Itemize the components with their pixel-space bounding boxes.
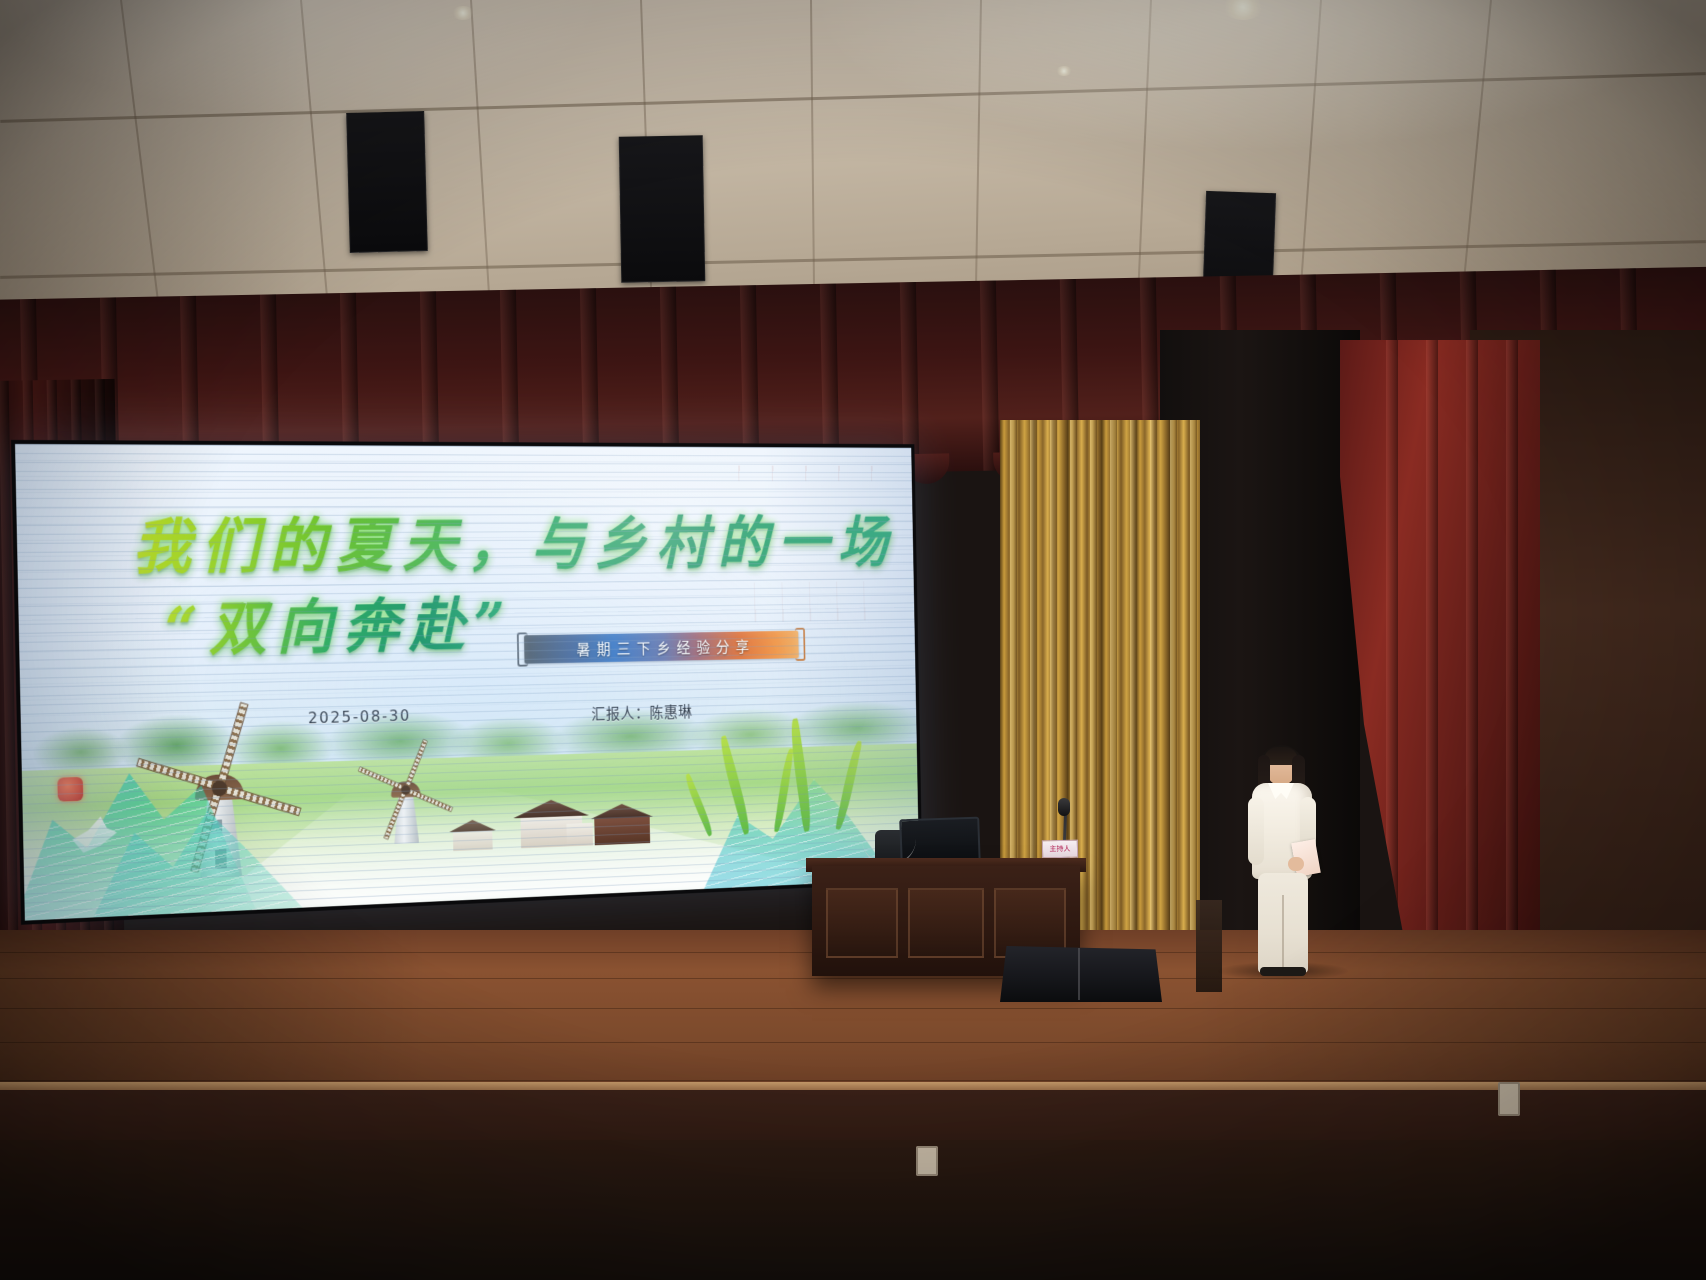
illustration-farmhouse [513,793,593,849]
ribbon-bracket-right [795,628,806,661]
presenter [1236,745,1332,975]
presentation-slide: 我们的夏天，与乡村的一场 “双向奔赴” 暑期三下乡经验分享 2025-08-30… [15,444,919,921]
presenter-arm-left [1248,797,1264,865]
slide-title-line-2: “双向奔赴” [164,577,516,668]
presenter-shoes [1260,967,1306,976]
microphone-icon[interactable] [1058,798,1070,816]
wall-power-socket [1498,1082,1520,1116]
ceiling-acoustic-panel [619,135,706,282]
led-screen[interactable]: 我们的夏天，与乡村的一场 “双向奔赴” 暑期三下乡经验分享 2025-08-30… [11,440,923,925]
auditorium-floor [0,1140,1706,1280]
slide-subtitle-text: 暑期三下乡经验分享 [570,634,756,660]
ribbon-bracket-left [517,632,528,666]
slide-subtitle-ribbon: 暑期三下乡经验分享 [524,631,799,664]
screen-surface: 我们的夏天，与乡村的一场 “双向奔赴” 暑期三下乡经验分享 2025-08-30… [15,444,919,921]
stage-monitor-speaker [1000,946,1162,1002]
stage-photograph: 我们的夏天，与乡村的一场 “双向奔赴” 暑期三下乡经验分享 2025-08-30… [0,0,1706,1280]
presenter-glasses [1270,762,1292,768]
speaker-seam [1078,948,1080,1000]
name-placard: 主持人 [1042,840,1078,859]
ceiling-acoustic-panel [346,111,428,253]
placard-text: 主持人 [1049,844,1070,854]
ceiling-light-glint [1056,66,1072,76]
ceiling-light-glint [452,6,474,20]
slide-date: 2025-08-30 [308,706,411,727]
illustration-farmhouse [449,815,496,851]
wall-power-socket [916,1146,938,1176]
slide-presenter-label: 汇报人：陈惠琳 [591,699,693,724]
illustration-red-lantern [57,777,83,802]
curtain-red-right [1340,340,1540,960]
background-chair [1196,900,1222,992]
illustration-farmhouse [590,798,655,845]
presenter-hand [1288,857,1304,871]
illustration-windmill-small [374,802,410,845]
slide-title-line-1: 我们的夏天，与乡村的一场 [131,497,897,586]
